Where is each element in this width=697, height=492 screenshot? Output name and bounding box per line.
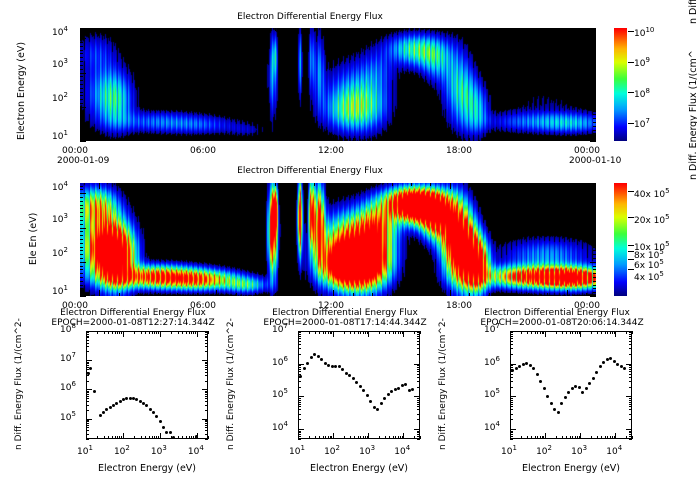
spectrum-ytick	[202, 360, 208, 361]
middle-panel-ytick	[80, 281, 83, 282]
spectrum-xtick	[414, 436, 415, 439]
spectrum-xtick	[325, 331, 326, 334]
spectrum-xtick	[193, 331, 194, 334]
top-panel-xtick	[547, 138, 548, 141]
spectrum-ytick	[205, 365, 208, 366]
top-panel-xtick	[547, 28, 548, 31]
spectrum-xtick	[531, 331, 532, 334]
top-panel-ytick	[80, 126, 83, 127]
middle-colorbar-tick-mark	[628, 245, 634, 246]
spectrum-ytick	[510, 331, 516, 332]
top-spectrogram-image	[80, 28, 596, 141]
top-panel-xtick	[333, 135, 334, 141]
spectrum-xtick	[607, 331, 608, 334]
spectrum-xtick	[566, 331, 567, 334]
top-ytick-2: 102	[52, 94, 68, 104]
spectrum-xtick	[591, 436, 592, 439]
middle-panel-xtick	[177, 293, 178, 296]
middle-panel-ytick	[593, 254, 596, 255]
spectrum-xtick	[115, 331, 116, 334]
spectrum-xtick	[149, 331, 150, 334]
top-panel-xtick	[255, 28, 256, 31]
spectrum-ytick	[629, 414, 632, 415]
spectrum-ytick	[298, 348, 301, 349]
spectrum-xtick	[607, 436, 608, 439]
spectrum-ytick	[417, 338, 420, 339]
spectrum-xtick	[597, 331, 598, 334]
spectrum-ytick	[629, 400, 632, 401]
top-panel-ytick	[593, 34, 596, 35]
spectrum-ytick	[510, 404, 513, 405]
middle-panel-xtick	[236, 293, 237, 296]
spectrum-ytick	[86, 375, 89, 376]
middle-panel-ytick	[80, 285, 83, 286]
top-ytick-1: 103	[52, 60, 68, 70]
middle-panel-ytick	[593, 250, 596, 251]
spectrum-3-ytick-label: 107	[484, 325, 500, 335]
spectrum-xtick	[420, 436, 421, 439]
spectrum-ytick	[86, 372, 89, 373]
spectrum-xtick	[171, 331, 172, 334]
spectrum-xtick	[389, 331, 390, 334]
spectrum-ytick	[86, 381, 89, 382]
spectrum-ytick	[86, 405, 89, 406]
data-point	[613, 360, 616, 363]
spectrum-ytick	[629, 354, 632, 355]
spectrum-ytick	[86, 392, 89, 393]
middle-panel-ytick	[593, 266, 596, 267]
spectrum-xtick	[535, 436, 536, 439]
top-colorbar-tick-2: 108	[634, 90, 650, 100]
spectrum-ytick	[298, 338, 301, 339]
spectrum-ytick	[202, 419, 208, 420]
top-panel-ytick	[593, 65, 596, 66]
top-xtick-4-date: 2000-01-10	[569, 156, 621, 166]
spectrum-xtick	[145, 331, 146, 334]
spectrum-1-ytick-label: 108	[60, 325, 76, 335]
top-panel-xtick	[372, 138, 373, 141]
spectrum-xtick	[350, 436, 351, 439]
spectrum-xtick	[344, 331, 345, 334]
top-ytick-3: 101	[52, 132, 68, 142]
spectrum-xtick	[610, 436, 611, 439]
middle-panel-xtick	[99, 290, 100, 296]
spectrum-xtick	[615, 331, 616, 337]
top-panel-ytick	[80, 69, 83, 70]
middle-panel-ytick	[80, 273, 83, 274]
middle-panel-xtick	[294, 183, 295, 186]
spectrum-ytick	[86, 334, 89, 335]
spectrum-xtick	[562, 331, 563, 334]
spectrum-ytick	[510, 371, 513, 372]
middle-panel-xtick	[586, 293, 587, 296]
middle-panel-ytick	[80, 288, 83, 289]
top-panel-xtick	[372, 28, 373, 31]
middle-panel-xtick	[353, 293, 354, 296]
top-panel-xtick	[353, 28, 354, 31]
spectrum-ytick	[510, 406, 513, 407]
spectrum-ytick	[205, 401, 208, 402]
spectrum-ytick	[205, 427, 208, 428]
data-point	[99, 414, 102, 417]
middle-panel-ytick	[80, 243, 83, 244]
spectrum-ytick	[510, 364, 516, 365]
top-panel-ytick	[80, 84, 83, 85]
top-panel-ytick	[593, 122, 596, 123]
top-panel-xtick	[430, 28, 431, 31]
spectrum-xtick	[193, 436, 194, 439]
spectrum-ytick	[417, 369, 420, 370]
middle-panel-ytick	[593, 285, 596, 286]
middle-panel-ytick	[593, 189, 596, 190]
middle-panel-ytick	[593, 288, 596, 289]
top-panel-xtick	[158, 138, 159, 141]
middle-panel-ytick	[80, 247, 83, 248]
spectrum-xtick	[97, 331, 98, 334]
middle-ytick-1: 103	[52, 215, 68, 225]
middle-panel-xtick	[450, 183, 451, 189]
spectrum-ytick	[86, 331, 92, 332]
spectrum-ytick	[298, 414, 301, 415]
spectrum-ytick	[298, 374, 301, 375]
top-ytick-0: 104	[52, 28, 68, 38]
top-panel-xtick	[255, 138, 256, 141]
middle-panel-xtick	[138, 293, 139, 296]
spectrum-ytick	[414, 364, 420, 365]
middle-panel-xtick	[528, 293, 529, 296]
spectrum-ytick	[626, 364, 632, 365]
spectrum-xtick	[152, 436, 153, 439]
middle-colorbar-tick-0: 40x 105	[634, 190, 670, 200]
top-panel-xtick	[469, 28, 470, 31]
top-panel-ytick	[593, 57, 596, 58]
top-panel-xtick	[99, 28, 100, 34]
middle-panel-xtick	[508, 183, 509, 186]
spectrum-xtick	[521, 331, 522, 334]
spectrum-ytick	[417, 406, 420, 407]
middle-panel-xtick	[489, 183, 490, 186]
spectrum-xtick	[108, 331, 109, 334]
top-panel-xtick	[158, 28, 159, 31]
spectrum-ytick	[629, 344, 632, 345]
top-panel-xtick	[450, 28, 451, 34]
spectrum-1-title: Electron Differential Energy Flux	[33, 308, 233, 318]
top-panel-xtick	[216, 135, 217, 141]
spectrum-2-ytick-label: 106	[272, 358, 288, 368]
middle-panel-ytick	[593, 220, 596, 221]
spectrum-3-ytick-label: 105	[484, 390, 500, 400]
spectrum-ytick	[298, 365, 301, 366]
spectrum-ytick	[417, 402, 420, 403]
top-panel-ytick	[593, 133, 596, 134]
data-point	[172, 436, 175, 439]
spectrum-1-ylabel: n Diff. Energy Flux (1/(cm^2-	[14, 318, 24, 450]
spectrum-xtick	[368, 331, 369, 337]
spectrum-ytick	[298, 331, 304, 332]
spectrum-xtick	[556, 331, 557, 334]
spectrum-ytick	[205, 434, 208, 435]
spectrum-ytick	[629, 398, 632, 399]
spectrum-xtick	[393, 436, 394, 439]
middle-panel-xtick	[469, 183, 470, 186]
spectrum-ytick	[510, 374, 513, 375]
top-panel-ytick	[593, 84, 596, 85]
top-panel-ytick	[593, 46, 596, 47]
top-panel-xtick	[353, 138, 354, 141]
top-panel-ytick	[80, 61, 83, 62]
spectrum-xtick	[108, 436, 109, 439]
spectrum-ytick	[298, 436, 301, 437]
top-colorbar-label: n Diff. Energy Flux (1/(cm^	[688, 0, 697, 24]
middle-panel-xtick	[275, 183, 276, 186]
spectrum-xtick	[580, 433, 581, 439]
top-panel-ytick	[80, 137, 83, 138]
middle-panel-xtick	[138, 183, 139, 186]
spectrum-xtick	[395, 331, 396, 334]
middle-panel-ytick	[593, 239, 596, 240]
top-panel-xtick	[314, 138, 315, 141]
spectrum-xtick	[189, 436, 190, 439]
spectrum-xtick	[379, 436, 380, 439]
top-panel-xtick	[450, 135, 451, 141]
middle-panel-ytick	[80, 205, 83, 206]
spectrum-xtick	[156, 436, 157, 439]
spectrum-ytick	[510, 387, 513, 388]
spectrum-ytick	[510, 367, 513, 368]
spectrum-ytick	[205, 375, 208, 376]
spectrum-xtick	[191, 436, 192, 439]
spectrum-ytick	[205, 405, 208, 406]
middle-panel-ytick	[80, 262, 86, 263]
spectrum-ytick	[510, 341, 513, 342]
spectrum-2-ytick-label: 107	[272, 325, 288, 335]
spectrum-ytick	[205, 346, 208, 347]
spectrum-ytick	[86, 389, 92, 390]
top-panel-ytick	[590, 38, 596, 39]
middle-panel-xtick	[158, 293, 159, 296]
spectrum-ytick	[417, 439, 420, 440]
spectrum-ytick	[205, 369, 208, 370]
middle-colorbar-label: n Diff. Energy Flux (1/(cm^	[688, 50, 697, 180]
spectrum-ytick	[629, 369, 632, 370]
middle-panel-xtick	[314, 293, 315, 296]
spectrum-xtick	[323, 331, 324, 334]
middle-panel-xtick	[314, 183, 315, 186]
middle-ytick-3: 101	[52, 287, 68, 297]
top-panel-ytick	[80, 34, 83, 35]
spectrum-xtick	[123, 433, 124, 439]
middle-panel-ytick	[590, 228, 596, 229]
middle-panel-xtick	[216, 183, 217, 189]
top-panel-ytick	[80, 133, 83, 134]
spectrum-ytick	[510, 396, 516, 397]
top-panel-xtick	[489, 138, 490, 141]
top-panel-xtick	[528, 28, 529, 31]
top-panel-xtick	[392, 28, 393, 31]
spectrum-ytick	[86, 396, 89, 397]
middle-panel-ytick	[593, 281, 596, 282]
spectrum-xtick	[119, 436, 120, 439]
spectrum-ytick	[298, 432, 301, 433]
spectrum-xtick	[319, 436, 320, 439]
spectrum-ytick	[86, 360, 92, 361]
spectrum-xtick	[328, 436, 329, 439]
spectrum-ytick	[298, 429, 304, 430]
top-panel-ytick	[593, 53, 596, 54]
top-panel-xtick	[236, 28, 237, 31]
spectrum-xtick	[632, 331, 633, 334]
spectrum-ytick	[298, 332, 301, 333]
spectrum-ytick	[86, 337, 89, 338]
spectrum-ytick	[205, 439, 208, 440]
spectrum-ytick	[205, 334, 208, 335]
spectrum-xtick	[319, 331, 320, 334]
top-panel-ytick	[590, 107, 596, 108]
top-panel-ytick	[593, 88, 596, 89]
spectrum-xtick	[360, 436, 361, 439]
top-panel-xtick	[411, 138, 412, 141]
top-colorbar-tick-0: 1010	[634, 29, 654, 39]
top-panel-ytick	[80, 46, 83, 47]
spectrum-xtick	[626, 436, 627, 439]
spectrum-ytick	[510, 344, 513, 345]
spectrum-ytick	[298, 409, 301, 410]
top-panel-ytick	[80, 80, 83, 81]
top-panel-ytick	[593, 80, 596, 81]
middle-panel-xtick	[489, 293, 490, 296]
spectrum-ytick	[629, 338, 632, 339]
spectrum-ytick	[629, 387, 632, 388]
spectrum-xtick	[385, 436, 386, 439]
data-point	[352, 377, 355, 380]
spectrum-ytick	[298, 341, 301, 342]
middle-panel-ytick	[80, 216, 83, 217]
top-colorbar-tick-mark	[628, 31, 634, 32]
spectrum-xtick	[610, 331, 611, 334]
spectrum-ytick	[205, 391, 208, 392]
spectrum-ytick	[86, 427, 89, 428]
spectrum-1-xtick-label: 104	[188, 447, 204, 457]
top-xtick-2: 12:00	[318, 146, 344, 156]
spectrum-ytick	[417, 414, 420, 415]
spectrum-ytick	[510, 398, 513, 399]
spectrum-ytick	[510, 436, 513, 437]
spectrum-xtick	[189, 331, 190, 334]
middle-panel-ytick	[593, 201, 596, 202]
spectrum-xtick	[134, 436, 135, 439]
top-panel-ytick	[593, 31, 596, 32]
spectrum-ytick	[298, 419, 301, 420]
top-panel-ylabel: Electron Energy (eV)	[16, 42, 27, 140]
spectrum-xtick	[333, 331, 334, 337]
spectrum-2-xlabel: Electron Energy (eV)	[298, 463, 420, 474]
spectrum-xtick	[117, 331, 118, 334]
middle-panel-xtick	[294, 293, 295, 296]
spectrum-ytick	[629, 419, 632, 420]
spectrum-ytick	[298, 344, 301, 345]
spectrum-xtick	[186, 331, 187, 334]
spectrum-ytick	[510, 414, 513, 415]
spectrum-xtick	[154, 331, 155, 334]
spectrum-2-ytick-label: 104	[272, 423, 288, 433]
middle-colorbar-tick-mark	[628, 251, 634, 252]
spectrum-xtick	[344, 436, 345, 439]
spectrum-xtick	[309, 436, 310, 439]
spectrum-ytick	[202, 389, 208, 390]
spectrum-xtick	[354, 436, 355, 439]
spectrum-1-ytick-label: 106	[60, 383, 76, 393]
spectrum-ytick	[629, 377, 632, 378]
middle-panel-ytick	[593, 235, 596, 236]
spectrum-xtick	[575, 331, 576, 334]
spectrum-xtick	[403, 331, 404, 337]
top-panel-ytick	[80, 76, 83, 77]
middle-colorbar-tick-1: 20x 105	[634, 216, 670, 226]
spectrum-ytick	[86, 362, 89, 363]
spectrum-1-ytick-label: 107	[60, 354, 76, 364]
spectrum-ytick	[86, 421, 89, 422]
top-panel-xtick	[586, 138, 587, 141]
spectrum-ytick	[298, 336, 301, 337]
middle-panel-ytick	[593, 205, 596, 206]
spectrum-ytick	[205, 336, 208, 337]
middle-panel-xtick	[333, 183, 334, 189]
spectrum-ytick	[417, 348, 420, 349]
spectrum-ytick	[414, 396, 420, 397]
spectrum-ytick	[629, 436, 632, 437]
spectrum-xtick	[540, 436, 541, 439]
spectrum-ytick	[417, 400, 420, 401]
top-colorbar-tick-mark	[628, 92, 634, 93]
top-panel-ytick	[593, 92, 596, 93]
top-panel-ytick	[593, 103, 596, 104]
middle-panel-xtick	[392, 183, 393, 186]
spectrum-ytick	[298, 398, 301, 399]
middle-panel-xtick	[255, 293, 256, 296]
spectrum-ytick	[298, 371, 301, 372]
spectrum-ytick	[510, 434, 513, 435]
spectrum-ytick	[417, 431, 420, 432]
top-panel-xtick	[586, 28, 587, 31]
top-panel-ytick	[590, 141, 596, 142]
spectrum-ytick	[629, 367, 632, 368]
spectrum-ytick	[629, 336, 632, 337]
middle-ytick-2: 102	[52, 249, 68, 259]
middle-panel-ytick	[593, 224, 596, 225]
spectrum-ytick	[86, 420, 89, 421]
middle-panel-ytick	[80, 239, 83, 240]
spectrum-xtick	[104, 436, 105, 439]
spectrum-ytick	[510, 431, 513, 432]
spectrum-ytick	[510, 336, 513, 337]
spectrum-ytick	[629, 334, 632, 335]
spectrum-xtick	[333, 433, 334, 439]
middle-panel-ytick	[80, 266, 83, 267]
middle-panel-ytick	[593, 216, 596, 217]
spectrum-xtick	[403, 433, 404, 439]
spectrum-ytick	[629, 406, 632, 407]
top-panel-ytick	[80, 122, 83, 123]
middle-colorbar-tick-mark	[628, 259, 634, 260]
top-panel-title: Electron Differential Energy Flux	[0, 12, 620, 22]
spectrum-2-xtick-label: 102	[324, 447, 340, 457]
middle-panel-ytick	[593, 186, 596, 187]
spectrum-xtick	[521, 436, 522, 439]
spectrum-ytick	[298, 439, 301, 440]
top-panel-ytick	[80, 107, 86, 108]
top-panel-ytick	[593, 76, 596, 77]
spectrum-ytick	[629, 402, 632, 403]
